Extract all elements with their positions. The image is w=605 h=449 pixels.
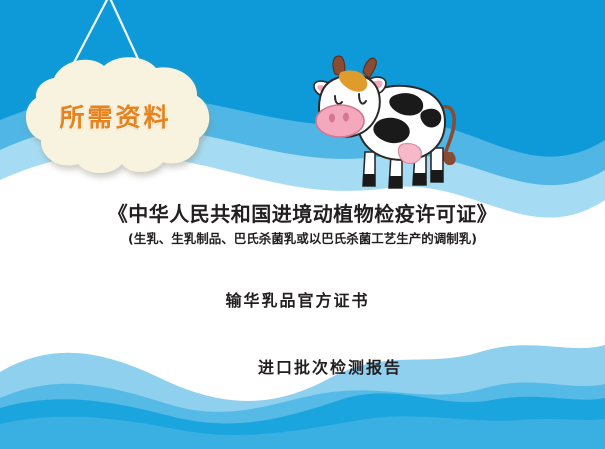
cloud-banner: 所需资料 (8, 52, 223, 187)
banner-title: 所需资料 (8, 98, 223, 134)
cow-svg (305, 48, 475, 198)
cow-tail-tuft (443, 152, 455, 165)
document-subtitle: (生乳、生乳制品、巴氏杀菌乳或以巴氏杀菌工艺生产的调制乳) (0, 229, 605, 249)
cow-nostril-right (343, 113, 349, 122)
document-title: 《中华人民共和国进境动植物检疫许可证》 (0, 200, 605, 228)
slide-root: 所需资料 (0, 0, 605, 449)
cow-udder (398, 144, 421, 164)
cow-snout (316, 105, 364, 137)
cow-illustration (305, 48, 475, 198)
required-item-certificate: 输华乳品官方证书 (0, 287, 605, 311)
content-text-block: 《中华人民共和国进境动植物检疫许可证》 (生乳、生乳制品、巴氏杀菌乳或以巴氏杀菌… (0, 200, 605, 378)
cow-horn-right (363, 58, 376, 78)
cow-nostril-left (329, 114, 335, 123)
required-item-report: 进口批次检测报告 (0, 354, 605, 378)
